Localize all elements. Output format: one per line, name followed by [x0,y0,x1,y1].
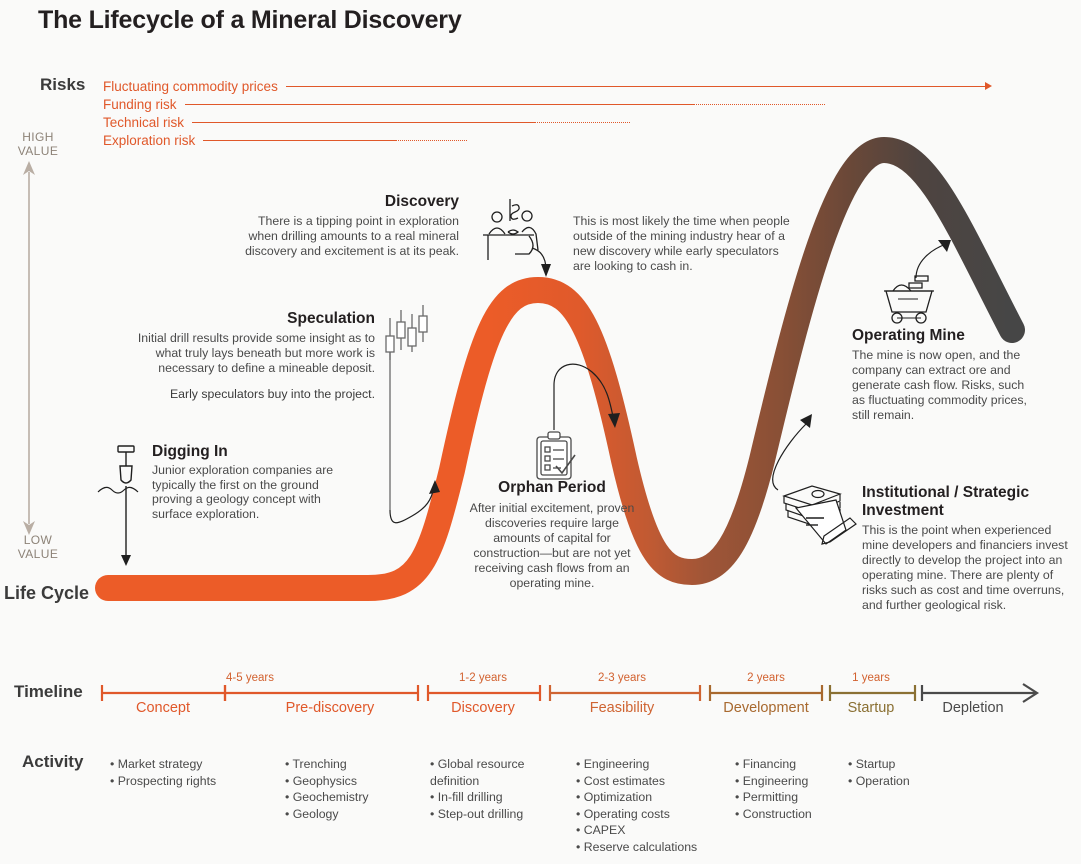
callout-speculation: Speculation Initial drill results provid… [120,310,375,402]
activity-item: • Operation [848,773,910,790]
timeline-stage-label[interactable]: Feasibility [552,700,692,716]
mine-cart-icon [884,276,934,323]
timeline-duration: 1 years [821,672,921,684]
activity-column: • Market strategy• Prospecting rights [110,756,216,789]
discovery-connector-arrow [532,248,551,277]
timeline-stage-label[interactable]: Concept [93,700,233,716]
shovel-icon [98,446,138,566]
callout-title: Speculation [120,310,375,328]
timeline-duration: 2 years [716,672,816,684]
activity-column: • Engineering• Cost estimates• Optimizat… [576,756,697,855]
activity-item: • Geology [285,806,369,823]
clipboard-checklist-icon [537,432,575,479]
callout-digging-in: Digging In Junior exploration companies … [152,443,347,521]
callout-body: The mine is now open, and the company ca… [852,348,1027,423]
callout-title: Discovery [231,193,459,211]
people-at-table-with-money-icon [483,199,538,260]
candlestick-chart-icon [386,305,427,510]
activity-item: • Permitting [735,789,812,806]
timeline-duration: 4-5 years [200,672,300,684]
callout-body: Initial drill results provide some insig… [120,331,375,376]
cash-stack-contract-icon [784,486,856,544]
activity-item: • Global resource definition [430,756,535,789]
activity-item: • Construction [735,806,812,823]
callout-operating-mine: Operating Mine The mine is now open, and… [852,327,1027,423]
operating-mine-connector-arrow [916,240,951,278]
activity-column: • Startup• Operation [848,756,910,789]
activity-item: • Market strategy [110,756,216,773]
callout-title: Operating Mine [852,327,1027,345]
activity-item: • Operating costs [576,806,697,823]
activity-column: • Trenching• Geophysics• Geochemistry• G… [285,756,369,822]
activity-column: • Financing• Engineering• Permitting• Co… [735,756,812,822]
activity-item: • Engineering [576,756,697,773]
callout-institutional-investment: Institutional / Strategic Investment Thi… [862,484,1078,613]
callout-title: Institutional / Strategic Investment [862,484,1078,520]
activity-item: • In-fill drilling [430,789,535,806]
activity-item: • Cost estimates [576,773,697,790]
callout-body-secondary: Early speculators buy into the project. [120,387,375,402]
callout-title: Digging In [152,443,347,461]
activity-item: • Engineering [735,773,812,790]
activity-section-label: Activity [22,752,83,772]
timeline-duration: 1-2 years [433,672,533,684]
callout-body: Junior exploration companies are typical… [152,463,347,521]
activity-item: • Geophysics [285,773,369,790]
activity-column: • Global resource definition• In-fill dr… [430,756,535,822]
activity-item: • Trenching [285,756,369,773]
callout-orphan-period: Orphan Period After initial excitement, … [462,479,642,591]
activity-item: • Startup [848,756,910,773]
callout-market-note: This is most likely the time when people… [573,214,795,274]
callout-discovery: Discovery There is a tipping point in ex… [231,193,459,259]
timeline-stage-label[interactable]: Depletion [903,700,1043,716]
timeline-duration: 2-3 years [572,672,672,684]
activity-item: • CAPEX [576,822,697,839]
timeline-stage-label[interactable]: Discovery [413,700,553,716]
activity-item: • Financing [735,756,812,773]
activity-item: • Step-out drilling [430,806,535,823]
callout-body: This is the point when experienced mine … [862,523,1078,613]
activity-item: • Geochemistry [285,789,369,806]
timeline-stage-label[interactable]: Pre-discovery [260,700,400,716]
activity-item: • Optimization [576,789,697,806]
activity-item: • Reserve calculations [576,839,697,856]
callout-body: After initial excitement, proven discove… [462,501,642,591]
callout-body: There is a tipping point in exploration … [231,214,459,259]
callout-title: Orphan Period [462,479,642,497]
activity-item: • Prospecting rights [110,773,216,790]
